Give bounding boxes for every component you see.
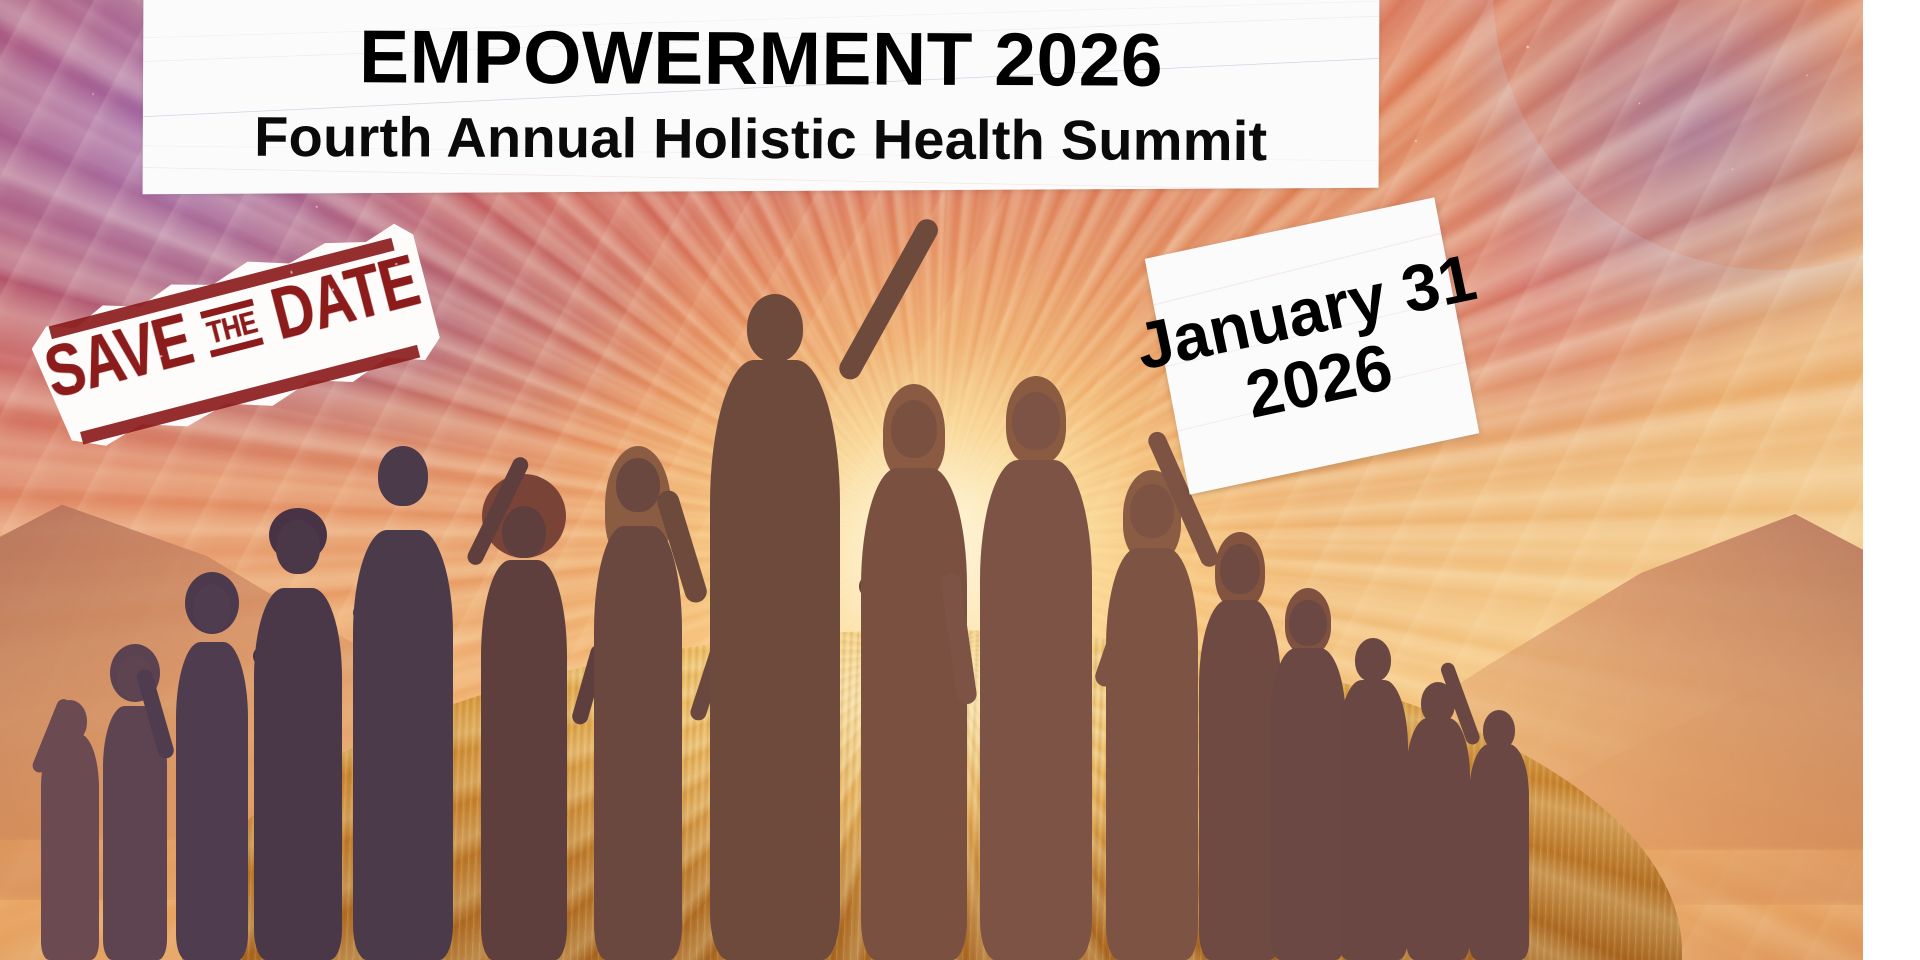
title-card-content: EMPOWERMENT 2026 Fourth Annual Holistic … xyxy=(143,0,1380,194)
torso xyxy=(481,560,567,960)
head xyxy=(1289,600,1327,646)
torso xyxy=(176,642,248,960)
figure-2-standing xyxy=(96,628,174,960)
figure-4-arms-crossed xyxy=(246,502,350,960)
head xyxy=(502,506,546,558)
right-white-margin xyxy=(1863,0,1920,960)
figure-16-standing xyxy=(1462,696,1536,960)
figure-8-hero-arm-up xyxy=(690,260,860,960)
torso xyxy=(353,530,453,960)
torso xyxy=(710,360,840,960)
head xyxy=(378,446,428,506)
head xyxy=(1220,544,1260,594)
victory-arm-raised xyxy=(835,215,942,383)
head xyxy=(891,400,937,458)
head xyxy=(616,458,660,512)
figure-3-hand-on-hip xyxy=(168,562,256,960)
page-title: EMPOWERMENT 2026 xyxy=(359,18,1163,98)
stamp-word-the-group: THE xyxy=(200,298,264,357)
head xyxy=(1355,638,1391,682)
figure-10-hand-on-hip xyxy=(966,374,1106,960)
torso xyxy=(980,460,1092,960)
head xyxy=(276,520,320,574)
figure-5-arms-crossed xyxy=(344,436,462,960)
figure-6-arm-up-afro xyxy=(466,472,582,960)
page-subtitle: Fourth Annual Holistic Health Summit xyxy=(254,108,1267,171)
head xyxy=(1012,392,1060,450)
torso xyxy=(1406,718,1470,960)
torso xyxy=(254,588,342,960)
title-card: EMPOWERMENT 2026 Fourth Annual Holistic … xyxy=(143,0,1380,194)
save-the-date-poster: EMPOWERMENT 2026 Fourth Annual Holistic … xyxy=(0,0,1920,960)
torso xyxy=(861,468,967,960)
head xyxy=(747,294,803,362)
torso xyxy=(1469,744,1529,960)
torso xyxy=(1106,548,1198,960)
head xyxy=(1130,484,1174,538)
torso xyxy=(41,734,99,960)
torso xyxy=(594,526,682,960)
head xyxy=(193,584,231,632)
